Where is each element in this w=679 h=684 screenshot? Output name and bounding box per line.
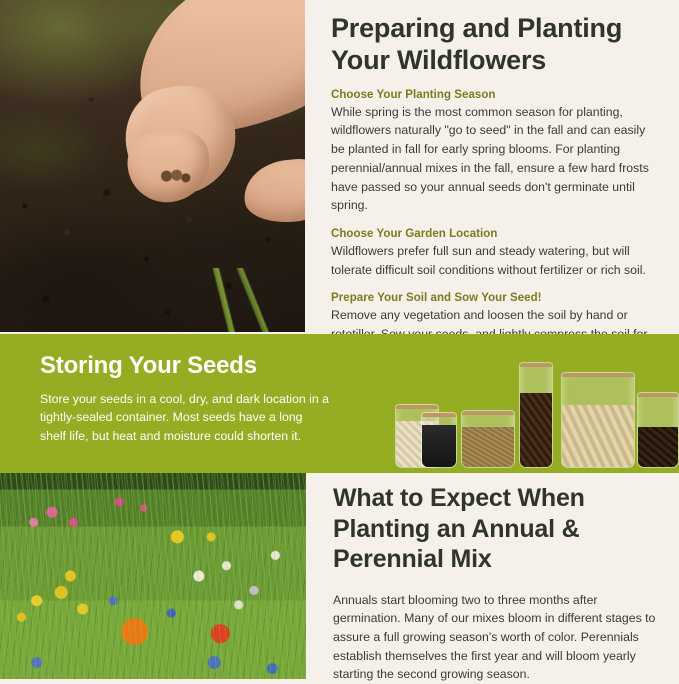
jar-contents xyxy=(462,427,514,467)
cork-lid-icon xyxy=(421,412,457,417)
paragraph-garden-location: Wildflowers prefer full sun and steady w… xyxy=(331,242,661,279)
jar-contents xyxy=(422,425,456,467)
cork-lid-icon xyxy=(395,404,439,409)
seed-jar-6 xyxy=(637,392,679,468)
section-preparing-and-planting: Preparing and Planting Your Wildflowers … xyxy=(0,0,679,334)
section-title-storing: Storing Your Seeds xyxy=(40,352,330,380)
page-title-preparing: Preparing and Planting Your Wildflowers xyxy=(331,12,661,77)
photo-hand-sowing-seeds-in-soil xyxy=(0,0,305,332)
photo-seed-jars xyxy=(385,342,675,468)
seeds-in-hand xyxy=(158,168,192,186)
photo-wildflower-meadow xyxy=(0,473,306,679)
seed-jar-3 xyxy=(461,410,515,468)
preparing-text-column: Preparing and Planting Your Wildflowers … xyxy=(305,0,679,334)
section-what-to-expect: What to Expect When Planting an Annual &… xyxy=(0,473,679,679)
infographic-page: Preparing and Planting Your Wildflowers … xyxy=(0,0,679,679)
cork-lid-icon xyxy=(519,362,553,367)
section-title-what-to-expect: What to Expect When Planting an Annual &… xyxy=(333,483,653,575)
paragraph-storing: Store your seeds in a cool, dry, and dar… xyxy=(40,390,330,445)
seed-jar-4 xyxy=(519,362,553,468)
subheading-planting-season: Choose Your Planting Season xyxy=(331,89,679,101)
storing-text-column: Storing Your Seeds Store your seeds in a… xyxy=(40,352,330,445)
subheading-prepare-soil: Prepare Your Soil and Sow Your Seed! xyxy=(331,292,679,304)
seed-jar-5 xyxy=(561,372,635,468)
paragraph-what-to-expect: Annuals start blooming two to three mont… xyxy=(333,591,663,684)
section-storing-your-seeds: Storing Your Seeds Store your seeds in a… xyxy=(0,334,679,473)
expect-text-column: What to Expect When Planting an Annual &… xyxy=(306,473,679,679)
meadow-foreground-grass xyxy=(0,473,306,679)
cork-lid-icon xyxy=(561,372,635,377)
jar-contents xyxy=(638,427,678,467)
paragraph-planting-season: While spring is the most common season f… xyxy=(331,103,661,215)
jar-contents xyxy=(562,405,634,467)
cork-lid-icon xyxy=(637,392,679,397)
cork-lid-icon xyxy=(461,410,515,415)
seed-jar-2 xyxy=(421,412,457,468)
jar-contents xyxy=(520,393,552,467)
subheading-garden-location: Choose Your Garden Location xyxy=(331,228,679,240)
grass-blades xyxy=(137,268,305,332)
